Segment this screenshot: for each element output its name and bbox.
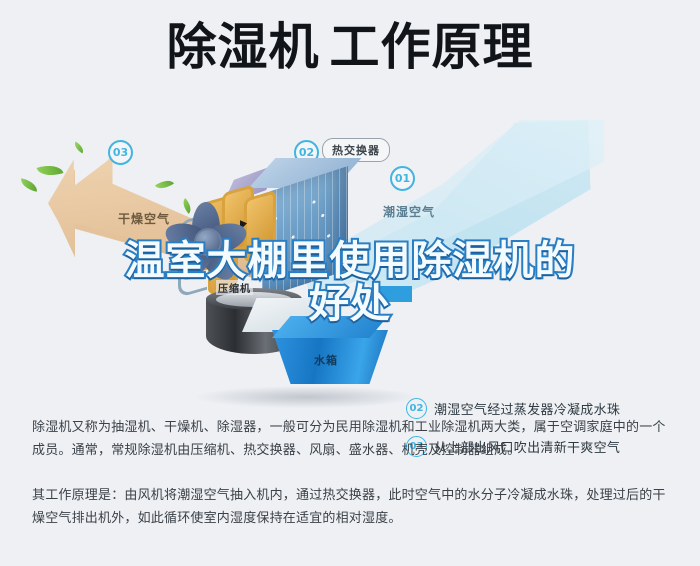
water-tank-top: [272, 316, 388, 338]
step-marker-03: 03: [108, 140, 133, 165]
label-compressor: 压缩机: [216, 280, 253, 295]
body-paragraph-1: 除湿机又称为抽湿机、干燥机、除湿器，一般可分为民用除湿机和工业除湿机两大类，属于…: [32, 416, 672, 462]
page-title-part2: 工作原理: [330, 18, 534, 76]
air-inlet-arrow-icon: [362, 286, 412, 302]
fan-icon: [160, 194, 252, 286]
machine-shadow: [196, 386, 416, 408]
diagram-stage: 干燥空气 潮湿空气 03 02 01 热交换器: [0, 118, 700, 410]
water-tank: 水箱: [272, 316, 388, 384]
paragraph-spacer: [32, 470, 672, 484]
leaf-icon: [72, 141, 86, 153]
fan-hub: [194, 228, 222, 256]
page-title: 除湿机工作原理: [0, 18, 700, 76]
infographic-page: 除湿机工作原理 干燥空气 潮湿空气 03 02 01 热交换器: [0, 0, 700, 566]
body-copy: 除湿机又称为抽湿机、干燥机、除湿器，一般可分为民用除湿机和工业除湿机两大类，属于…: [32, 416, 672, 538]
page-title-part1: 除湿机: [167, 18, 320, 76]
leaf-icon: [37, 161, 64, 181]
dehumidifier-machine: 压缩机 水箱: [150, 148, 410, 398]
body-paragraph-2: 其工作原理是：由风机将潮湿空气抽入机内，通过热交换器，此时空气中的水分子冷凝成水…: [32, 484, 672, 530]
label-water-tank: 水箱: [314, 352, 338, 368]
leaf-icon: [19, 178, 39, 192]
